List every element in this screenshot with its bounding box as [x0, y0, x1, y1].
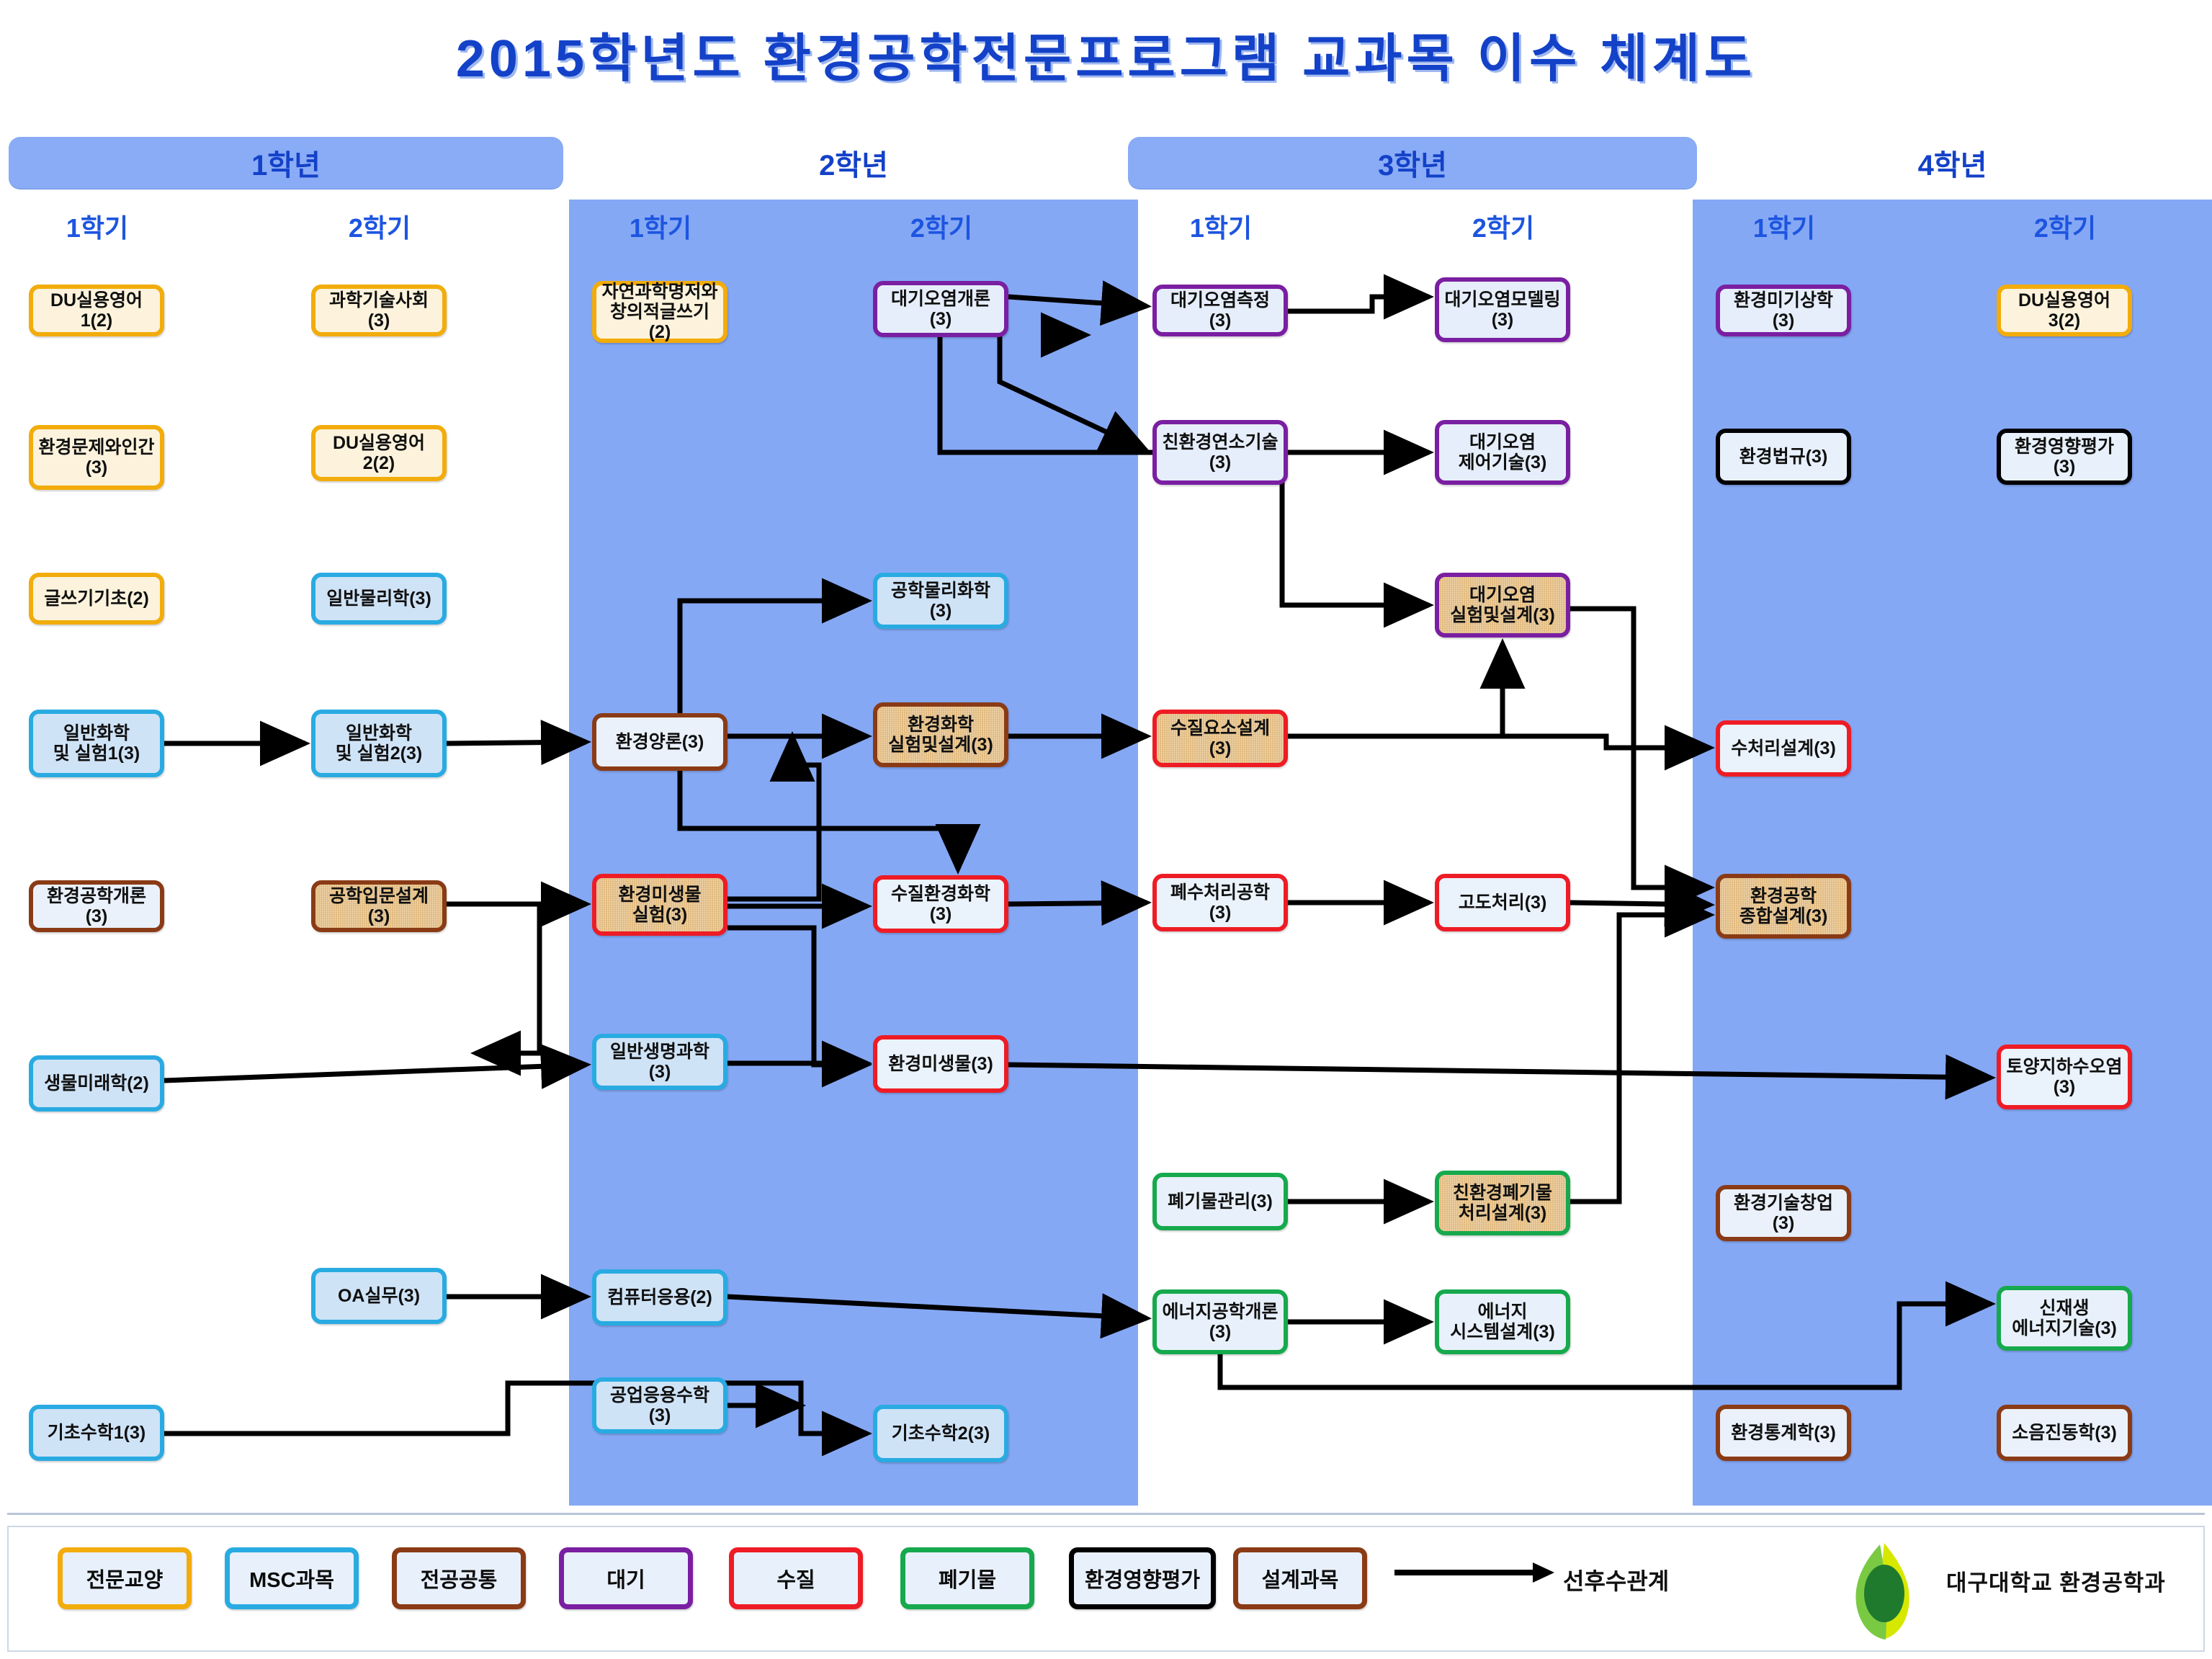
course-box-sinjae[interactable]: 신재생 에너지기술(3): [1997, 1286, 2132, 1351]
semester-header-0: 1학기: [7, 207, 187, 245]
course-box-computer[interactable]: 컴퓨터응용(2): [592, 1269, 727, 1325]
legend-chip-5: 폐기물: [900, 1547, 1034, 1609]
year-header-4-label: 4학년: [1918, 142, 1987, 184]
course-box-gicho1[interactable]: 기초수학1(3): [29, 1405, 164, 1461]
course-box-changeop[interactable]: 환경기술창업(3): [1716, 1185, 1851, 1241]
course-box-yangron[interactable]: 환경양론(3): [592, 713, 727, 771]
course-box-gicho2[interactable]: 기초수학2(3): [873, 1405, 1008, 1462]
course-box-oa[interactable]: OA실무(3): [311, 1268, 447, 1324]
semester-header-1: 2학기: [290, 207, 470, 245]
course-box-migisang[interactable]: 환경미기상학(3): [1716, 285, 1851, 336]
course-box-daegicheuk[interactable]: 대기오염측정(3): [1152, 285, 1288, 336]
course-box-yeonghyang[interactable]: 환경영향평가(3): [1997, 429, 2132, 485]
legend-chip-0: 전문교양: [58, 1547, 192, 1609]
legend-chip-7: 설계과목: [1233, 1547, 1367, 1609]
course-box-chinyeonso[interactable]: 친환경연소기술 (3): [1152, 420, 1288, 485]
course-box-pyegimul[interactable]: 폐기물관리(3): [1152, 1173, 1288, 1230]
course-box-pyesu[interactable]: 폐수처리공학(3): [1152, 874, 1288, 931]
course-box-du1[interactable]: DU실용영어1(2): [29, 285, 164, 336]
course-box-ipmun[interactable]: 공학입문설계(3): [311, 880, 447, 932]
course-box-sujilyoso[interactable]: 수질요소설계(3): [1152, 710, 1288, 767]
band-year4: [1693, 200, 2212, 1506]
legend-chip-3: 대기: [559, 1547, 693, 1609]
prerequisite-arrow-icon: [1392, 1556, 1557, 1589]
course-box-godo[interactable]: 고도처리(3): [1435, 874, 1570, 931]
year-header-3: 3학년: [1128, 137, 1697, 189]
legend-chip-2: 전공공통: [392, 1547, 526, 1609]
semester-header-6: 1학기: [1694, 207, 1874, 245]
course-box-daegigae[interactable]: 대기오염개론(3): [873, 281, 1008, 337]
course-box-beopgyu[interactable]: 환경법규(3): [1716, 429, 1851, 485]
course-box-geulssugi[interactable]: 글쓰기기초(2): [29, 573, 164, 625]
course-box-energysys[interactable]: 에너지 시스템설계(3): [1435, 1289, 1570, 1354]
course-box-hwanmisaeng[interactable]: 환경미생물(3): [873, 1035, 1008, 1093]
course-box-ilbanhwa2[interactable]: 일반화학 및 실험2(3): [311, 710, 447, 777]
course-box-saengmul[interactable]: 생물미래학(2): [29, 1055, 164, 1112]
course-box-hwanmun[interactable]: 환경문제와인간 (3): [29, 425, 164, 490]
course-box-energygae[interactable]: 에너지공학개론 (3): [1152, 1289, 1288, 1354]
year-header-2-label: 2학년: [819, 142, 888, 184]
course-box-hwanhwasil[interactable]: 환경화학 실험및설계(3): [873, 702, 1008, 767]
legend-chip-4: 수질: [729, 1547, 863, 1609]
semester-header-5: 2학기: [1413, 207, 1593, 245]
course-box-ilbansaeng[interactable]: 일반생명과학(3): [592, 1034, 727, 1090]
semester-header-7: 2학기: [1975, 207, 2155, 245]
year-header-1-label: 1학년: [251, 142, 321, 184]
semester-header-3: 2학기: [851, 207, 1031, 245]
legend: 전문교양MSC과목전공공통대기수질폐기물환경영향평가설계과목 선후수관계 대구대…: [7, 1526, 2205, 1652]
legend-divider: [7, 1513, 2205, 1515]
course-box-gongeop[interactable]: 공업응용수학(3): [592, 1377, 727, 1434]
course-box-daegimodel[interactable]: 대기오염모델링 (3): [1435, 277, 1570, 342]
course-box-jayeon[interactable]: 자연과학명저와 창의적글쓰기(2): [592, 281, 727, 343]
course-box-chinpye[interactable]: 친환경폐기물 처리설계(3): [1435, 1171, 1570, 1235]
year-header-2: 2학년: [569, 137, 1138, 189]
course-box-sujilhwan[interactable]: 수질환경화학(3): [873, 875, 1008, 933]
year-header-3-label: 3학년: [1378, 142, 1447, 184]
course-box-jonghap[interactable]: 환경공학 종합설계(3): [1716, 874, 1851, 939]
course-box-mibosil[interactable]: 환경미생물 실험(3): [592, 874, 727, 936]
legend-chip-6: 환경영향평가: [1069, 1547, 1216, 1609]
prerequisite-arrow-label: 선후수관계: [1563, 1563, 1669, 1596]
course-box-toyang[interactable]: 토양지하수오염 (3): [1997, 1045, 2132, 1109]
course-box-ilbanhwa1[interactable]: 일반화학 및 실험1(3): [29, 710, 164, 777]
course-box-du2[interactable]: DU실용영어2(2): [311, 425, 447, 481]
page-title: 2015학년도 환경공학전문프로그램 교과목 이수 체계도: [0, 16, 2212, 91]
course-box-sucheori[interactable]: 수처리설계(3): [1716, 720, 1851, 777]
course-box-hwangong[interactable]: 환경공학개론(3): [29, 880, 164, 932]
course-box-tonggye[interactable]: 환경통계학(3): [1716, 1405, 1851, 1461]
year-header-1: 1학년: [9, 137, 563, 189]
semester-header-4: 1학기: [1131, 207, 1311, 245]
course-box-gongmulhwa[interactable]: 공학물리화학(3): [873, 573, 1008, 629]
course-box-du3[interactable]: DU실용영어3(2): [1997, 285, 2132, 336]
course-box-gwahak[interactable]: 과학기술사회(3): [311, 285, 447, 336]
course-box-daegijeeo[interactable]: 대기오염 제어기술(3): [1435, 420, 1570, 485]
university-logo-icon: [1837, 1540, 1930, 1641]
course-box-daegisil[interactable]: 대기오염 실험및설계(3): [1435, 573, 1570, 638]
semester-header-2: 1학기: [570, 207, 751, 245]
course-box-soeum[interactable]: 소음진동학(3): [1997, 1405, 2132, 1461]
department-name: 대구대학교 환경공학과: [1946, 1565, 2166, 1597]
course-box-ilbanmul[interactable]: 일반물리학(3): [311, 573, 447, 625]
legend-chip-1: MSC과목: [225, 1547, 359, 1609]
year-header-4: 4학년: [1693, 137, 2212, 189]
